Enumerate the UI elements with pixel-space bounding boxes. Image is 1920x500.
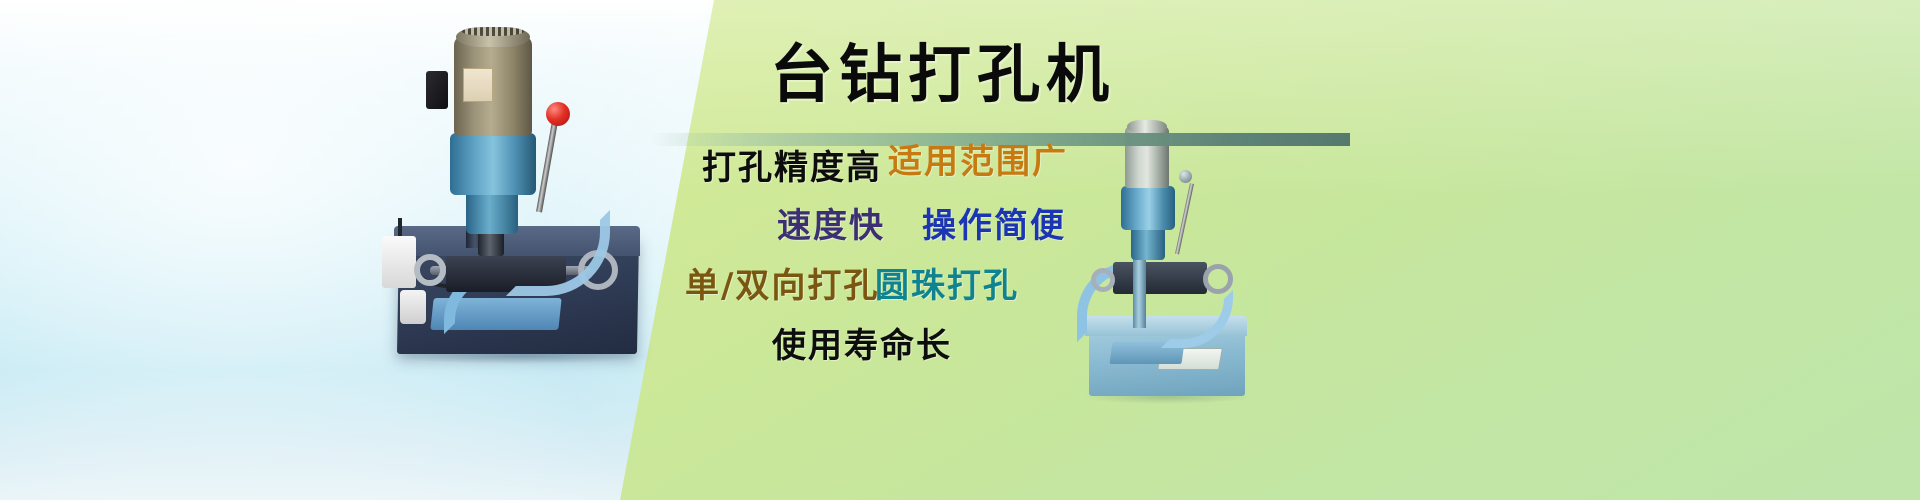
machine-left-switch-box — [426, 71, 448, 109]
machine-left-motor-vent — [462, 27, 524, 36]
product-image-left — [370, 18, 650, 363]
machine-left-foot-switch — [400, 290, 426, 324]
feature-row-4: 使用寿命长 — [660, 304, 1810, 356]
machine-left-handwheel-left — [414, 254, 446, 286]
feature-row-1: 打孔精度高 适用范围广 — [660, 148, 1810, 200]
feature-item-6: 使用寿命长 — [772, 326, 952, 366]
feature-list: 打孔精度高 适用范围广 速度快 操作简便 单/双向打孔 圆珠打孔 使用寿命长 — [660, 148, 1810, 356]
machine-left-quill — [466, 190, 518, 234]
machine-left-control-box — [382, 236, 416, 288]
feature-item-4: 单/双向打孔 — [685, 266, 879, 306]
feature-item-2: 速度快 — [777, 206, 885, 246]
feature-item-1: 适用范围广 — [888, 142, 1068, 182]
machine-left-lever-knob — [546, 102, 570, 126]
feature-row-2: 速度快 操作简便 — [660, 200, 1810, 252]
product-banner: 台钻打孔机 打孔精度高 适用范围广 速度快 操作简便 单/双向打孔 圆珠打孔 使… — [0, 0, 1920, 500]
banner-content: 台钻打孔机 打孔精度高 适用范围广 速度快 操作简便 单/双向打孔 圆珠打孔 使… — [660, 0, 1810, 500]
machine-left-head — [450, 133, 536, 195]
feature-item-5: 圆珠打孔 — [875, 266, 1019, 306]
feature-row-3: 单/双向打孔 圆珠打孔 — [660, 252, 1810, 304]
feature-item-0: 打孔精度高 — [702, 148, 882, 188]
banner-title: 台钻打孔机 — [770, 38, 1115, 110]
machine-left-feed-lever — [536, 117, 559, 213]
machine-left-motor-label — [463, 68, 493, 102]
feature-item-3: 操作简便 — [922, 206, 1066, 246]
